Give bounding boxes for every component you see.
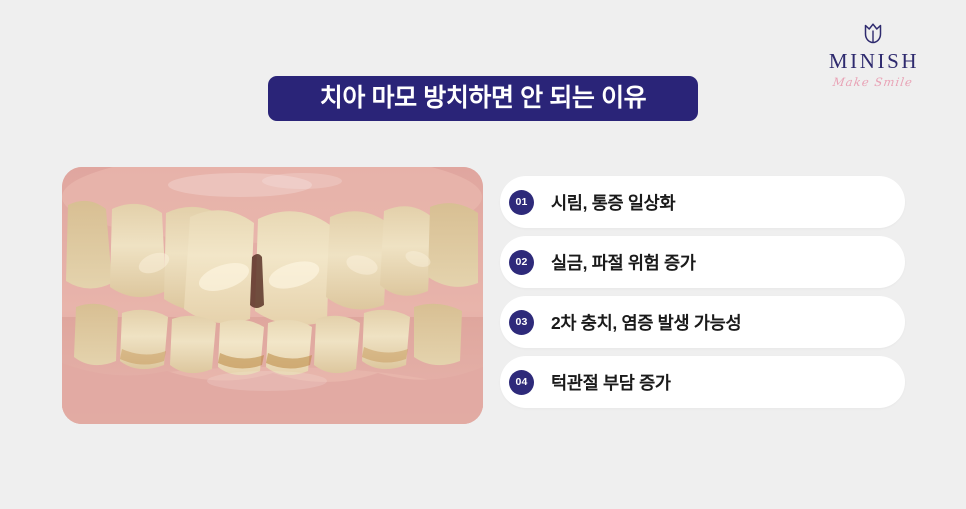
item-number-badge: 02 (509, 250, 534, 275)
intraoral-photo-graphic (62, 167, 483, 424)
item-label: 시림, 통증 일상화 (551, 190, 675, 215)
tulip-icon (858, 18, 888, 48)
reason-list: 01 시림, 통증 일상화 02 실금, 파절 위험 증가 03 2차 충치, … (500, 176, 905, 416)
list-item[interactable]: 04 턱관절 부담 증가 (500, 356, 905, 408)
list-item[interactable]: 02 실금, 파절 위험 증가 (500, 236, 905, 288)
list-item[interactable]: 01 시림, 통증 일상화 (500, 176, 905, 228)
item-label: 턱관절 부담 증가 (551, 370, 671, 395)
item-number-badge: 01 (509, 190, 534, 215)
item-label: 2차 충치, 염증 발생 가능성 (551, 310, 741, 335)
item-number-badge: 03 (509, 310, 534, 335)
item-number-badge: 04 (509, 370, 534, 395)
page-title-banner: 치아 마모 방치하면 안 되는 이유 (268, 76, 698, 121)
page-title: 치아 마모 방치하면 안 되는 이유 (320, 86, 647, 111)
brand-tagline: Make Smile (807, 75, 939, 89)
list-item[interactable]: 03 2차 충치, 염증 발생 가능성 (500, 296, 905, 348)
intraoral-photo (62, 167, 483, 424)
brand-logo: MINISH Make Smile (808, 18, 938, 89)
brand-name: MINISH (808, 50, 938, 72)
item-label: 실금, 파절 위험 증가 (551, 250, 696, 275)
